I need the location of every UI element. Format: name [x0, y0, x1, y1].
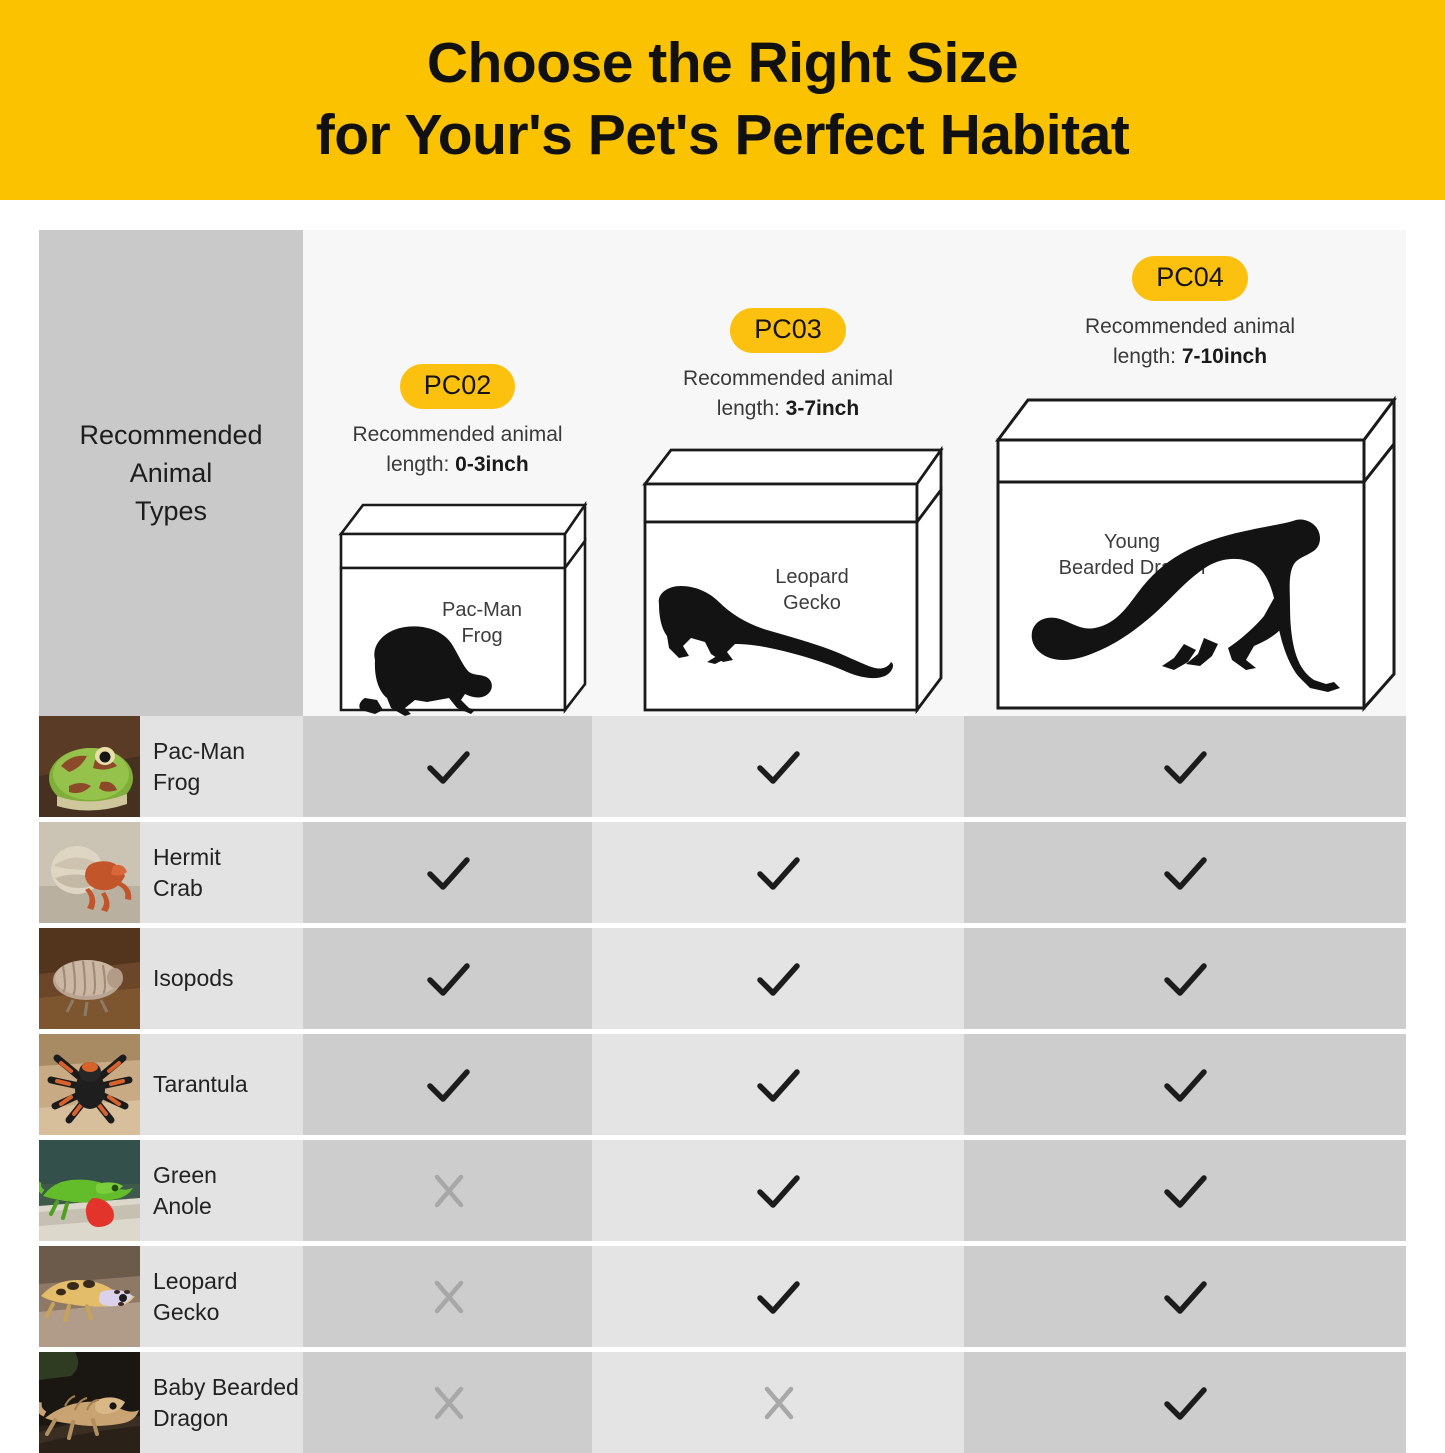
- rec-value-pc04: 7-10inch: [1182, 345, 1267, 368]
- table-header-strip: Recommended Animal Types PC02 Recommende…: [39, 230, 1406, 716]
- row-header-line-3: Types: [79, 492, 262, 530]
- cell-pc03[interactable]: [592, 1034, 964, 1135]
- check-icon: [1158, 1169, 1212, 1213]
- table-row[interactable]: Baby BeardedDragon: [39, 1352, 1406, 1453]
- baby-bearded-dragon-photo: [39, 1352, 140, 1453]
- product-column-pc02[interactable]: PC02 Recommended animal length: 0-3inch: [313, 364, 602, 716]
- cell-pc03[interactable]: [592, 1352, 964, 1453]
- check-icon: [1158, 957, 1212, 1001]
- row-label-cell: Pac-ManFrog: [140, 716, 303, 817]
- cell-pc02[interactable]: [303, 1352, 592, 1453]
- isopods-photo: [39, 928, 140, 1029]
- table-row[interactable]: Pac-ManFrog: [39, 716, 1406, 817]
- cell-pc04[interactable]: [964, 1034, 1406, 1135]
- hermit-crab-photo: [39, 822, 140, 923]
- tank-label-pc03-line-2: Gecko: [783, 592, 841, 614]
- row-header-line-1: Recommended: [79, 416, 262, 454]
- cell-pc03[interactable]: [592, 928, 964, 1029]
- cross-icon: [421, 1275, 475, 1319]
- cell-pc02[interactable]: [303, 928, 592, 1029]
- comparison-table: Recommended Animal Types PC02 Recommende…: [39, 230, 1406, 1453]
- cross-icon: [421, 1169, 475, 1213]
- check-icon: [421, 745, 475, 789]
- rec-label-pc02: length:: [386, 453, 455, 476]
- row-label-line-1: Hermit: [153, 844, 221, 870]
- rec-label-pc03: length:: [717, 397, 786, 420]
- pac-man-frog-photo: [39, 716, 140, 817]
- tank-illustration-pc04: Young Bearded Dragon: [980, 386, 1400, 716]
- table-row[interactable]: Isopods: [39, 928, 1406, 1029]
- table-row[interactable]: GreenAnole: [39, 1140, 1406, 1241]
- row-label-line-2: Dragon: [153, 1405, 228, 1431]
- check-icon: [421, 957, 475, 1001]
- cell-pc04[interactable]: [964, 928, 1406, 1029]
- check-icon: [751, 745, 805, 789]
- leopard-gecko-photo: [39, 1246, 140, 1347]
- row-label-cell: GreenAnole: [140, 1140, 303, 1241]
- row-header-line-2: Animal: [79, 454, 262, 492]
- check-icon: [751, 1063, 805, 1107]
- page-banner: Choose the Right Size for Your's Pet's P…: [0, 0, 1445, 200]
- table-row[interactable]: Tarantula: [39, 1034, 1406, 1135]
- cross-icon: [751, 1381, 805, 1425]
- row-label-line-1: Tarantula: [153, 1071, 248, 1097]
- check-icon: [751, 1169, 805, 1213]
- table-row[interactable]: LeopardGecko: [39, 1246, 1406, 1347]
- row-label-line-1: Green: [153, 1162, 217, 1188]
- cell-pc04[interactable]: [964, 716, 1406, 817]
- rec-prefix-pc04: Recommended animal: [1085, 312, 1295, 342]
- tank-label-pc02-line-1: Pac-Man: [441, 599, 521, 621]
- row-label-line-1: Baby Bearded: [153, 1374, 299, 1400]
- tarantula-photo: [39, 1034, 140, 1135]
- check-icon: [421, 1063, 475, 1107]
- tank-label-pc02-line-2: Frog: [461, 625, 502, 647]
- cell-pc04[interactable]: [964, 1352, 1406, 1453]
- cell-pc03[interactable]: [592, 716, 964, 817]
- check-icon: [751, 957, 805, 1001]
- row-label-line-2: Frog: [153, 769, 200, 795]
- check-icon: [1158, 1381, 1212, 1425]
- cell-pc02[interactable]: [303, 716, 592, 817]
- check-icon: [1158, 1063, 1212, 1107]
- product-badge-pc04: PC04: [1132, 256, 1248, 301]
- row-label-line-1: Leopard: [153, 1268, 237, 1294]
- row-label-line-2: Anole: [153, 1193, 212, 1219]
- product-header-panel: PC02 Recommended animal length: 0-3inch: [303, 230, 1406, 716]
- rec-value-pc02: 0-3inch: [455, 453, 529, 476]
- check-icon: [751, 1275, 805, 1319]
- check-icon: [421, 851, 475, 895]
- row-label-line-1: Isopods: [153, 965, 234, 991]
- cell-pc04[interactable]: [964, 1140, 1406, 1241]
- rec-prefix-pc02: Recommended animal: [352, 420, 562, 450]
- rec-value-pc03: 3-7inch: [786, 397, 860, 420]
- rec-prefix-pc03: Recommended animal: [683, 364, 893, 394]
- row-label-line-2: Gecko: [153, 1299, 219, 1325]
- cell-pc03[interactable]: [592, 1140, 964, 1241]
- product-badge-pc02: PC02: [400, 364, 516, 409]
- row-label-cell: Tarantula: [140, 1034, 303, 1135]
- banner-title-line-1: Choose the Right Size: [427, 28, 1018, 100]
- cell-pc04[interactable]: [964, 822, 1406, 923]
- tank-label-pc03-line-1: Leopard: [775, 566, 848, 588]
- cell-pc04[interactable]: [964, 1246, 1406, 1347]
- cell-pc02[interactable]: [303, 1034, 592, 1135]
- tank-illustration-pc02: Pac-Man Frog: [327, 494, 589, 716]
- cell-pc03[interactable]: [592, 1246, 964, 1347]
- cell-pc02[interactable]: [303, 1140, 592, 1241]
- row-label-cell: HermitCrab: [140, 822, 303, 923]
- banner-title-line-2: for Your's Pet's Perfect Habitat: [316, 100, 1130, 172]
- cell-pc02[interactable]: [303, 1246, 592, 1347]
- tank-label-pc04-line-1: Young: [1104, 531, 1160, 553]
- green-anole-photo: [39, 1140, 140, 1241]
- check-icon: [1158, 851, 1212, 895]
- cell-pc02[interactable]: [303, 822, 592, 923]
- product-recommendation-pc02: Recommended animal length: 0-3inch: [352, 420, 562, 480]
- rec-label-pc04: length:: [1113, 345, 1182, 368]
- product-recommendation-pc03: Recommended animal length: 3-7inch: [683, 364, 893, 424]
- product-recommendation-pc04: Recommended animal length: 7-10inch: [1085, 312, 1295, 372]
- product-column-pc03[interactable]: PC03 Recommended animal length: 3-7inch …: [602, 308, 974, 716]
- table-body: Pac-ManFrog: [39, 716, 1406, 1453]
- check-icon: [1158, 1275, 1212, 1319]
- product-column-pc04[interactable]: PC04 Recommended animal length: 7-10inch…: [974, 256, 1406, 716]
- cell-pc03[interactable]: [592, 822, 964, 923]
- product-badge-pc03: PC03: [730, 308, 846, 353]
- row-label-cell: Isopods: [140, 928, 303, 1029]
- check-icon: [1158, 745, 1212, 789]
- table-row[interactable]: HermitCrab: [39, 822, 1406, 923]
- row-label-cell: Baby BeardedDragon: [140, 1352, 303, 1453]
- row-header-label: Recommended Animal Types: [79, 416, 262, 531]
- row-label-line-2: Crab: [153, 875, 203, 901]
- cross-icon: [421, 1381, 475, 1425]
- tank-illustration-pc03: Leopard Gecko: [629, 438, 947, 716]
- check-icon: [751, 851, 805, 895]
- row-header-cell: Recommended Animal Types: [39, 230, 303, 716]
- row-label-cell: LeopardGecko: [140, 1246, 303, 1347]
- row-label-line-1: Pac-Man: [153, 738, 245, 764]
